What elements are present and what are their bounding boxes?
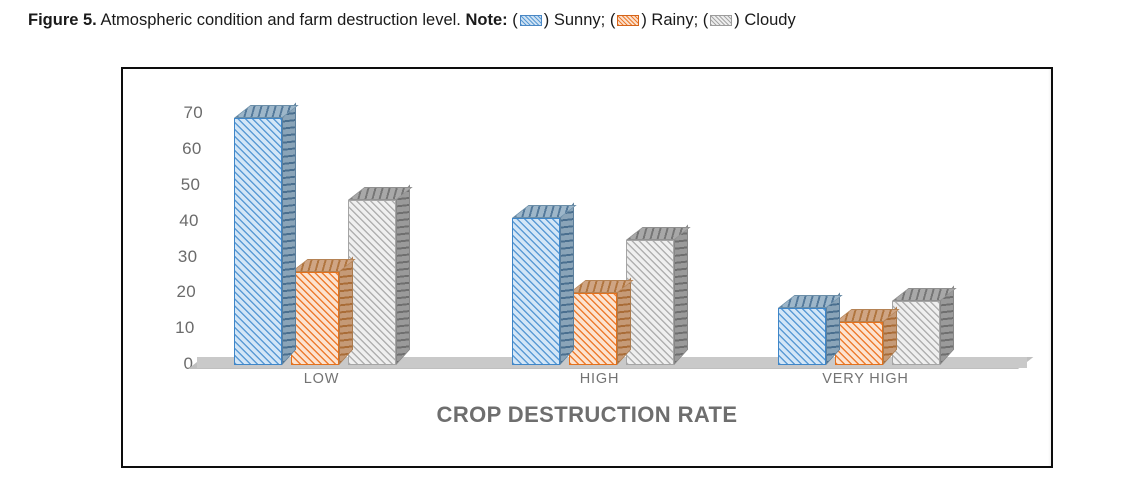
bar-high-rainy[interactable] — [569, 280, 630, 365]
paren-open-rainy: ( — [610, 11, 616, 29]
bar-side-face — [396, 185, 410, 365]
note-label: Note: — [465, 11, 507, 29]
paren-close-cloudy: ) — [734, 11, 740, 29]
bar-front-face — [348, 200, 396, 365]
legend-label-cloudy: Cloudy — [744, 11, 795, 29]
bar-high-sunny[interactable] — [512, 205, 573, 365]
sunny-swatch-icon — [520, 15, 542, 26]
legend-entry-cloudy: () Cloudy — [703, 11, 796, 29]
x-axis-tick-very-high: VERY HIGH — [766, 371, 966, 387]
paren-close-rainy: ) — [641, 11, 647, 29]
legend-label-rainy: Rainy; — [651, 11, 698, 29]
rainy-swatch-icon — [617, 15, 639, 26]
bar-front-face — [778, 308, 826, 365]
cloudy-swatch-icon — [710, 15, 732, 26]
paren-close-sunny: ) — [544, 11, 550, 29]
bar-front-face — [512, 218, 560, 365]
bar-front-face — [234, 118, 282, 365]
x-axis-tick-high: HIGH — [500, 371, 700, 387]
bar-low-rainy[interactable] — [291, 259, 352, 365]
figure-number: Figure 5. — [28, 11, 97, 29]
bar-side-face — [674, 224, 688, 365]
bar-front-face — [626, 240, 674, 365]
x-axis-tick-low: LOW — [222, 371, 422, 387]
paren-open-cloudy: ( — [703, 11, 709, 29]
bar-front-face — [291, 272, 339, 365]
figure-caption-text: Atmospheric condition and farm destructi… — [100, 11, 460, 29]
bar-side-face — [282, 102, 296, 365]
bar-very-high-rainy[interactable] — [835, 309, 896, 365]
bar-high-cloudy[interactable] — [626, 227, 687, 365]
bar-low-cloudy[interactable] — [348, 187, 409, 365]
bar-side-face — [560, 203, 574, 365]
paren-open-sunny: ( — [512, 11, 518, 29]
figure-caption: Figure 5. Atmospheric condition and farm… — [28, 10, 1118, 30]
legend-entry-rainy: () Rainy; — [610, 11, 703, 29]
bar-very-high-cloudy[interactable] — [892, 288, 953, 365]
x-axis-title: CROP DESTRUCTION RATE — [123, 402, 1051, 428]
chart-frame: 706050403020100 LOWHIGHVERY HIGH CROP DE… — [121, 67, 1053, 468]
bar-front-face — [569, 293, 617, 365]
bar-front-face — [835, 322, 883, 365]
bar-front-face — [892, 301, 940, 365]
bar-low-sunny[interactable] — [234, 105, 295, 365]
bar-side-face — [339, 256, 353, 365]
plot-area: 706050403020100 LOWHIGHVERY HIGH CROP DE… — [123, 69, 1051, 466]
legend-label-sunny: Sunny; — [554, 11, 605, 29]
legend-entry-sunny: () Sunny; — [512, 11, 610, 29]
bar-very-high-sunny[interactable] — [778, 295, 839, 365]
